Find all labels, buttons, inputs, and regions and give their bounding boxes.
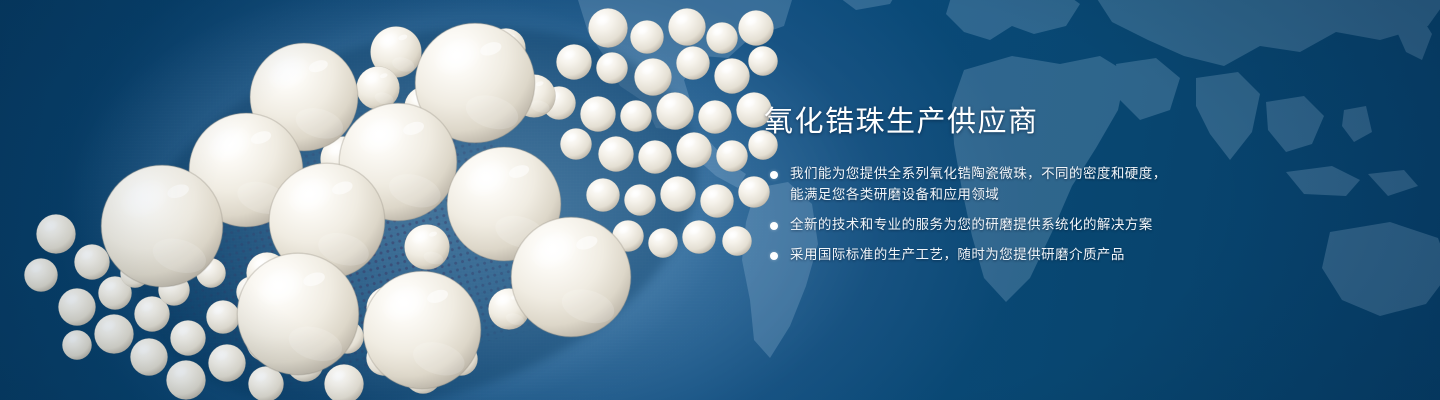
feature-list: 我们能为您提供全系列氧化锆陶瓷微珠，不同的密度和硬度， 能满足您各类研磨设备和应…: [762, 164, 1402, 266]
hero-banner: 氧化锆珠生产供应商 我们能为您提供全系列氧化锆陶瓷微珠，不同的密度和硬度， 能满…: [0, 0, 1440, 400]
list-item-line: 全新的技术和专业的服务为您的研磨提供系统化的解决方案: [790, 215, 1402, 236]
list-item: 采用国际标准的生产工艺，随时为您提供研磨介质产品: [762, 245, 1402, 266]
list-item: 我们能为您提供全系列氧化锆陶瓷微珠，不同的密度和硬度， 能满足您各类研磨设备和应…: [762, 164, 1402, 206]
page-title: 氧化锆珠生产供应商: [764, 104, 1402, 138]
list-item: 全新的技术和专业的服务为您的研磨提供系统化的解决方案: [762, 215, 1402, 236]
banner-copy: 氧化锆珠生产供应商 我们能为您提供全系列氧化锆陶瓷微珠，不同的密度和硬度， 能满…: [762, 104, 1402, 266]
bullet-dot-icon: [770, 171, 778, 179]
list-item-line: 采用国际标准的生产工艺，随时为您提供研磨介质产品: [790, 245, 1402, 266]
bullet-dot-icon: [770, 252, 778, 260]
list-item-line: 我们能为您提供全系列氧化锆陶瓷微珠，不同的密度和硬度，: [790, 164, 1402, 185]
bullet-dot-icon: [770, 222, 778, 230]
list-item-line: 能满足您各类研磨设备和应用领域: [790, 185, 1402, 206]
